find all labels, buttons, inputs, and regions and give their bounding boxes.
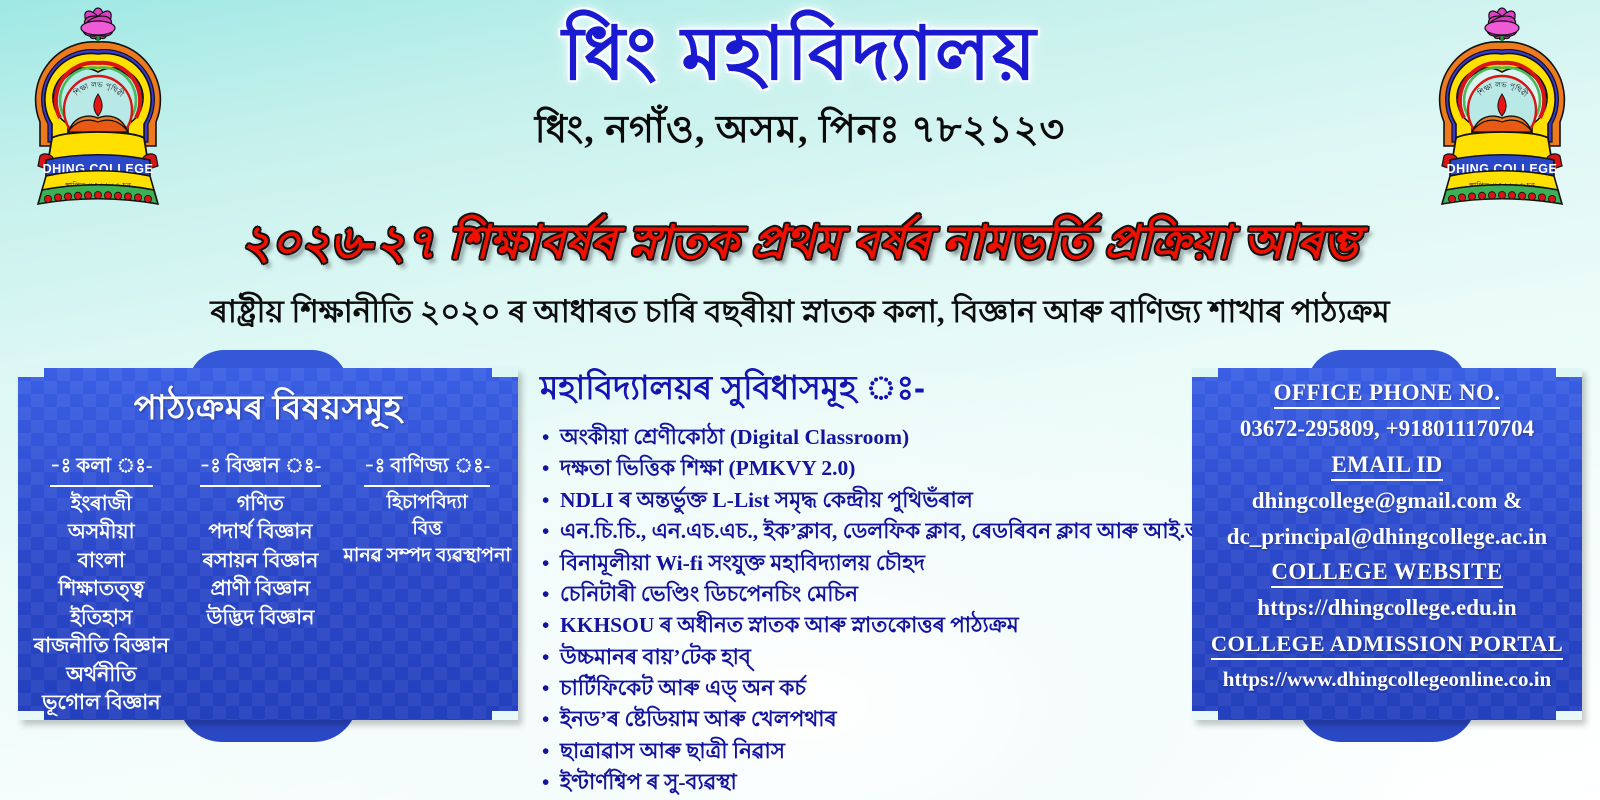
- bullet-icon: •: [542, 767, 549, 798]
- subject-item: ইংৰাজী: [24, 490, 179, 518]
- list-item: •ইণ্টাৰ্ণশ্বিপ ৰ সু-ব্যৱস্থা: [540, 767, 1200, 798]
- subject-item: পদাৰ্থ বিজ্ঞান: [179, 518, 343, 546]
- list-item-label: চেনিটাৰী ভেণ্ডিং ডিচপেনচিং মেচিন: [560, 582, 858, 606]
- list-item-label: দক্ষতা ভিত্তিক শিক্ষা (PMKVY 2.0): [560, 456, 855, 480]
- subjects-title: পাঠ্যক্ৰমৰ বিষয়সমূহ: [18, 368, 518, 439]
- bullet-icon: •: [542, 453, 549, 484]
- subject-item: গণিত: [179, 490, 343, 518]
- notch-bottom-left: [1192, 711, 1218, 720]
- list-item: •KKHSOU ৰ অধীনত স্নাতক আৰু স্নাতকোত্তৰ প…: [540, 610, 1200, 641]
- subject-item: অৰ্থনীতি: [24, 661, 179, 689]
- notch-bottom-right: [1556, 711, 1582, 720]
- email-value-primary[interactable]: dhingcollege@gmail.com &: [1202, 486, 1572, 517]
- bullet-icon: •: [542, 516, 549, 547]
- subject-column-arts: -ঃ কলা ঃ- ইংৰাজী অসমীয়া বাংলা শিক্ষাতত্…: [24, 451, 179, 718]
- subject-column-head-arts: -ঃ কলা ঃ-: [50, 451, 153, 487]
- list-item-label: চাৰ্টিফিকেট আৰু এড্ অন কৰ্চ: [560, 676, 806, 700]
- bullet-icon: •: [542, 673, 549, 704]
- office-phone-heading: OFFICE PHONE NO.: [1274, 380, 1501, 409]
- subject-item: বাংলা: [24, 547, 179, 575]
- subjects-panel: পাঠ্যক্ৰমৰ বিষয়সমূহ -ঃ কলা ঃ- ইংৰাজী অস…: [18, 368, 518, 720]
- bullet-icon: •: [542, 704, 549, 735]
- notch-bottom-left: [18, 711, 44, 720]
- college-address: ধিং, নগাঁও, অসম, পিনঃ ৭৮২১২৩: [535, 100, 1065, 164]
- admission-headline: ২০২৬-২৭ শিক্ষাবৰ্ষৰ স্নাতক প্ৰথম বৰ্ষৰ ন…: [0, 214, 1600, 272]
- list-item: •উচ্চমানৰ বায়’টেক হাব্: [540, 642, 1200, 673]
- website-heading: COLLEGE WEBSITE: [1271, 559, 1502, 588]
- subject-item: ভূগোল বিজ্ঞান: [24, 689, 179, 717]
- subject-item: ইতিহাস: [24, 604, 179, 632]
- subject-item: মানৱ সম্পদ ব্যৱস্থাপনা: [342, 543, 512, 569]
- list-item-label: এন.চি.চি., এন.এচ.এচ., ইক’ক্লাব, ডেলফিক ক…: [560, 519, 1250, 543]
- college-logo-left: শিক্ষা লভ পৃথিৱী জুৰি DHING COLLEGE স্থা…: [18, 6, 178, 211]
- list-item: •চেনিটাৰী ভেণ্ডিং ডিচপেনচিং মেচিন: [540, 579, 1200, 610]
- list-item: •ইনড’ৰ ষ্টেডিয়াম আৰু খেলপথাৰ: [540, 704, 1200, 735]
- list-item: •অংকীয়া শ্ৰেণীকোঠা (Digital Classroom): [540, 422, 1200, 453]
- college-logo-right: শিক্ষা লভ পৃথিৱী জুৰি DHING COLLEGE স্থা…: [1422, 6, 1582, 211]
- subject-item: বিত্ত: [342, 516, 512, 542]
- subject-item: প্ৰাণী বিজ্ঞান: [179, 575, 343, 603]
- contact-panel: OFFICE PHONE NO. 03672-295809, +91801117…: [1192, 368, 1582, 720]
- bullet-icon: •: [542, 736, 549, 767]
- admission-portal-link[interactable]: https://www.dhingcollegeonline.co.in: [1202, 665, 1572, 693]
- subject-item: ৰসায়ন বিজ্ঞান: [179, 547, 343, 575]
- subject-column-head-science: -ঃ বিজ্ঞান ঃ-: [200, 451, 322, 487]
- bullet-icon: •: [542, 485, 549, 516]
- subject-item: ৰাজনীতি বিজ্ঞান: [24, 632, 179, 660]
- list-item: •চাৰ্টিফিকেট আৰু এড্ অন কৰ্চ: [540, 673, 1200, 704]
- office-phone-value[interactable]: 03672-295809, +918011170704: [1202, 414, 1572, 445]
- college-name: ধিং মহাবিদ্যালয়: [562, 14, 1037, 94]
- website-link[interactable]: https://dhingcollege.edu.in: [1202, 593, 1572, 624]
- list-item-label: উচ্চমানৰ বায়’টেক হাব্: [560, 645, 751, 669]
- bullet-icon: •: [542, 548, 549, 579]
- email-value-secondary[interactable]: dc_principal@dhingcollege.ac.in: [1202, 522, 1572, 553]
- bullet-icon: •: [542, 579, 549, 610]
- admission-subline: ৰাষ্ট্ৰীয় শিক্ষানীতি ২০২০ ৰ আধাৰত চাৰি …: [0, 288, 1600, 340]
- subject-columns: -ঃ কলা ঃ- ইংৰাজী অসমীয়া বাংলা শিক্ষাতত্…: [18, 439, 518, 718]
- facilities-list: •অংকীয়া শ্ৰেণীকোঠা (Digital Classroom) …: [540, 422, 1200, 799]
- list-item-label: বিনামূলীয়া Wi-fi সংযুক্ত মহাবিদ্যালয় চ…: [560, 551, 925, 575]
- list-item-label: অংকীয়া শ্ৰেণীকোঠা (Digital Classroom): [560, 425, 909, 449]
- subject-item: উদ্ভিদ বিজ্ঞান: [179, 604, 343, 632]
- list-item-label: ইনড’ৰ ষ্টেডিয়াম আৰু খেলপথাৰ: [560, 707, 837, 731]
- subject-item: শিক্ষাতত্ত্ব: [24, 575, 179, 603]
- bullet-icon: •: [542, 642, 549, 673]
- subject-item: অসমীয়া: [24, 518, 179, 546]
- email-heading: EMAIL ID: [1331, 452, 1442, 481]
- list-item: •দক্ষতা ভিত্তিক শিক্ষা (PMKVY 2.0): [540, 453, 1200, 484]
- list-item: •এন.চি.চি., এন.এচ.এচ., ইক’ক্লাব, ডেলফিক …: [540, 516, 1200, 547]
- facilities-title: মহাবিদ্যালয়ৰ সুবিধাসমূহ ঃ-: [540, 362, 1200, 418]
- notch-bottom-right: [492, 711, 518, 720]
- admission-portal-heading: COLLEGE ADMISSION PORTAL: [1211, 631, 1563, 660]
- facilities-section: মহাবিদ্যালয়ৰ সুবিধাসমূহ ঃ- •অংকীয়া শ্ৰ…: [540, 362, 1200, 799]
- list-item-label: ইণ্টাৰ্ণশ্বিপ ৰ সু-ব্যৱস্থা: [560, 770, 737, 794]
- bullet-icon: •: [542, 610, 549, 641]
- list-item: •বিনামূলীয়া Wi-fi সংযুক্ত মহাবিদ্যালয় …: [540, 548, 1200, 579]
- subject-item: হিচাপবিদ্যা: [342, 490, 512, 516]
- list-item: •ছাত্ৰাৱাস আৰু ছাত্ৰী নিৱাস: [540, 736, 1200, 767]
- list-item: •NDLI ৰ অন্তৰ্ভুক্ত L-List সমৃদ্ধ কেন্দ্…: [540, 485, 1200, 516]
- subject-column-commerce: -ঃ বাণিজ্য ঃ- হিচাপবিদ্যা বিত্ত মানৱ সম্…: [342, 451, 512, 718]
- list-item-label: ছাত্ৰাৱাস আৰু ছাত্ৰী নিৱাস: [560, 739, 785, 763]
- bullet-icon: •: [542, 422, 549, 453]
- subject-column-head-commerce: -ঃ বাণিজ্য ঃ-: [364, 451, 490, 487]
- masthead: ধিং মহাবিদ্যালয় ধিং, নগাঁও, অসম, পিনঃ ৭…: [190, 14, 1410, 214]
- list-item-label: KKHSOU ৰ অধীনত স্নাতক আৰু স্নাতকোত্তৰ পা…: [560, 613, 1019, 637]
- list-item-label: NDLI ৰ অন্তৰ্ভুক্ত L-List সমৃদ্ধ কেন্দ্ৰ…: [560, 488, 973, 512]
- subject-column-science: -ঃ বিজ্ঞান ঃ- গণিত পদাৰ্থ বিজ্ঞান ৰসায়ন…: [179, 451, 343, 718]
